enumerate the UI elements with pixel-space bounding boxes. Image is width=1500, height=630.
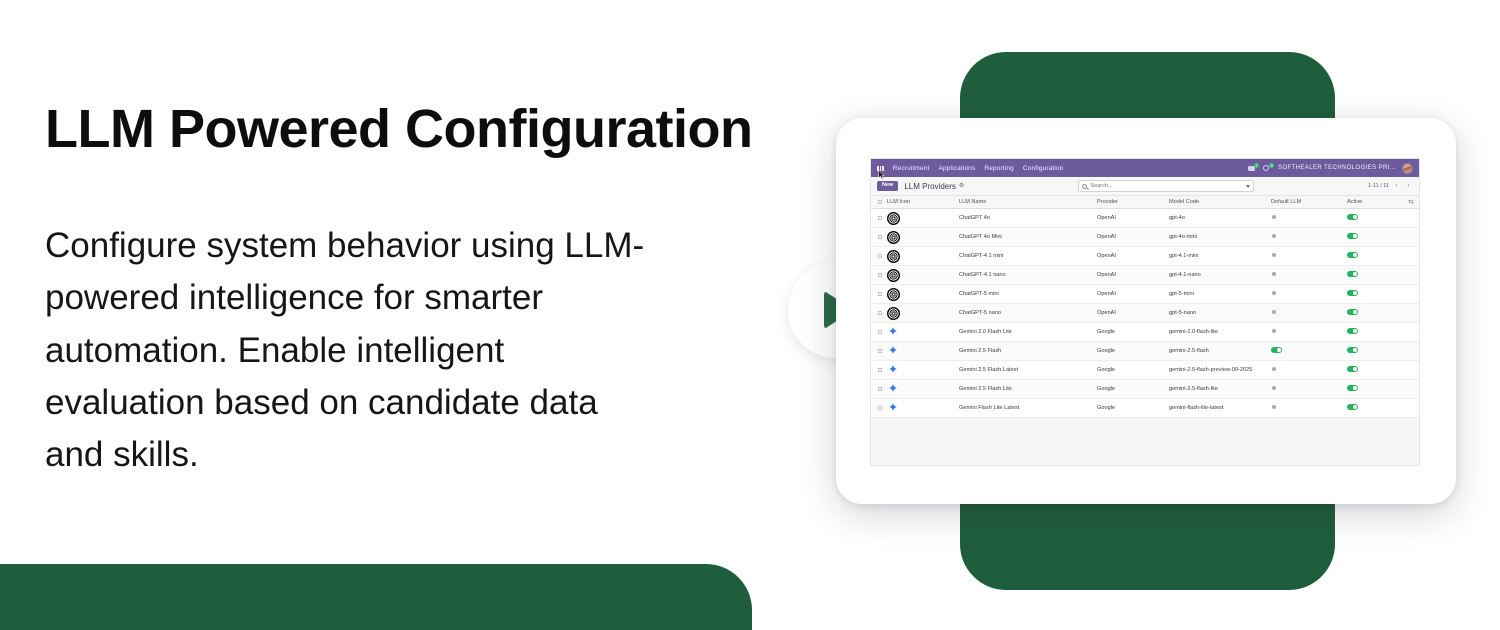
default-llm-toggle[interactable] [1271, 366, 1282, 372]
active-toggle[interactable] [1347, 347, 1358, 353]
cell-provider: Google [1097, 386, 1169, 392]
search-bar[interactable] [1078, 180, 1254, 192]
cell-default-llm[interactable] [1271, 252, 1347, 260]
cell-llm-name: Gemini 2.5 Flash [959, 348, 1097, 354]
cell-model-code: gpt-4o [1169, 215, 1271, 221]
cell-llm-name: ChatGPT-5 nano [959, 310, 1097, 316]
row-checkbox[interactable] [871, 254, 887, 258]
app-topbar: Recruitment Applications Reporting Confi… [871, 159, 1419, 177]
table-body: ChatGPT 4oOpenAIgpt-4oChatGPT 4o MiniOpe… [871, 209, 1419, 418]
row-checkbox[interactable] [871, 292, 887, 296]
cell-model-code: gpt-5-mini [1169, 291, 1271, 297]
messages-count: 7 [1254, 163, 1259, 168]
cell-llm-icon [887, 326, 959, 338]
gemini-logo-icon [887, 383, 899, 395]
view-title-label: LLM Providers [904, 182, 956, 191]
menu-item-reporting[interactable]: Reporting [984, 165, 1014, 172]
column-header-model-code[interactable]: Model Code [1169, 199, 1271, 205]
default-llm-toggle[interactable] [1271, 309, 1282, 315]
openai-logo-icon [887, 307, 900, 320]
activities-count: 8 [1269, 163, 1274, 168]
cell-provider: Google [1097, 329, 1169, 335]
search-wrapper [971, 180, 1362, 192]
active-toggle[interactable] [1347, 271, 1358, 277]
cell-active[interactable] [1347, 271, 1403, 279]
chevron-left-icon[interactable]: ‹ [1392, 182, 1401, 191]
default-llm-toggle[interactable] [1271, 252, 1282, 258]
cell-llm-name: ChatGPT 4o [959, 215, 1097, 221]
cell-provider: Google [1097, 367, 1169, 373]
cell-llm-name: ChatGPT-4.1 mini [959, 253, 1097, 259]
table-row[interactable]: Gemini 2.0 Flash LiteGooglegemini-2.0-fl… [871, 323, 1419, 342]
cell-llm-icon [887, 269, 959, 282]
cell-active[interactable] [1347, 290, 1403, 298]
openai-logo-icon [887, 269, 900, 282]
cell-llm-icon [887, 364, 959, 376]
cell-provider: OpenAI [1097, 310, 1169, 316]
breadcrumb: LLM Providers ⚙ [904, 182, 965, 191]
default-llm-toggle[interactable] [1271, 290, 1282, 296]
column-header-default-llm[interactable]: Default LLM [1271, 199, 1347, 205]
openai-logo-icon [887, 231, 900, 244]
cell-default-llm[interactable] [1271, 385, 1347, 393]
openai-logo-icon [887, 288, 900, 301]
table-row[interactable]: Gemini 2.5 Flash LiteGooglegemini-2.5-fl… [871, 380, 1419, 399]
cell-default-llm[interactable] [1271, 347, 1347, 355]
row-checkbox[interactable] [871, 368, 887, 372]
search-icon [1082, 184, 1087, 189]
hero-copy: LLM Powered Configuration Configure syst… [45, 100, 805, 481]
clock-icon[interactable]: 8 [1263, 164, 1272, 173]
cell-llm-name: ChatGPT-4.1 nano [959, 272, 1097, 278]
new-button[interactable]: New [877, 181, 898, 192]
cell-llm-name: ChatGPT-5 mini [959, 291, 1097, 297]
openai-logo-icon [887, 250, 900, 263]
column-header-llm-icon[interactable]: LLM Icon [887, 199, 959, 205]
gemini-logo-icon [887, 345, 899, 357]
default-llm-toggle[interactable] [1271, 347, 1282, 353]
active-toggle[interactable] [1347, 290, 1358, 296]
active-toggle[interactable] [1347, 366, 1358, 372]
cell-model-code: gpt-4.1-mini [1169, 253, 1271, 259]
default-llm-toggle[interactable] [1271, 233, 1282, 239]
cell-model-code: gemini-flash-lite-latest [1169, 405, 1271, 411]
row-checkbox[interactable] [871, 235, 887, 239]
cell-default-llm[interactable] [1271, 366, 1347, 374]
default-llm-toggle[interactable] [1271, 328, 1282, 334]
cell-llm-name: Gemini 2.5 Flash Latest [959, 367, 1097, 373]
table-row[interactable]: ChatGPT-4.1 miniOpenAIgpt-4.1-mini [871, 247, 1419, 266]
active-toggle[interactable] [1347, 328, 1358, 334]
cell-llm-icon [887, 345, 959, 357]
chevron-down-icon[interactable] [1246, 185, 1250, 188]
chevron-right-icon[interactable]: › [1404, 182, 1413, 191]
cell-provider: OpenAI [1097, 215, 1169, 221]
cell-llm-icon [887, 231, 959, 244]
table-empty-space [871, 418, 1419, 466]
row-checkbox[interactable] [871, 406, 887, 410]
hero-description: Configure system behavior using LLM-powe… [45, 220, 665, 481]
cell-active[interactable] [1347, 366, 1403, 374]
column-header-active[interactable]: Active [1347, 199, 1403, 205]
table-row[interactable]: Gemini 2.5 Flash LatestGooglegemini-2.5-… [871, 361, 1419, 380]
gemini-logo-icon [887, 402, 899, 414]
pager-range: 1-11 / 11 [1368, 183, 1389, 189]
decor-shape-bottom-left [0, 564, 752, 630]
cell-llm-icon [887, 288, 959, 301]
table-row[interactable]: ChatGPT 4oOpenAIgpt-4o [871, 209, 1419, 228]
cell-active[interactable] [1347, 385, 1403, 393]
cell-active[interactable] [1347, 233, 1403, 241]
cell-provider: OpenAI [1097, 234, 1169, 240]
table-header-row: LLM Icon LLM Name Provider Model Code De… [871, 196, 1419, 209]
gemini-logo-icon [887, 364, 899, 376]
row-checkbox[interactable] [871, 387, 887, 391]
row-checkbox[interactable] [871, 311, 887, 315]
company-name[interactable]: SOFTHEALER TECHNOLOGIES PRI... [1278, 165, 1396, 171]
menu-item-configuration[interactable]: Configuration [1023, 165, 1064, 172]
cell-active[interactable] [1347, 328, 1403, 336]
active-toggle[interactable] [1347, 385, 1358, 391]
cell-provider: OpenAI [1097, 272, 1169, 278]
row-checkbox[interactable] [871, 273, 887, 277]
default-llm-toggle[interactable] [1271, 271, 1282, 277]
cell-active[interactable] [1347, 347, 1403, 355]
cell-provider: Google [1097, 405, 1169, 411]
cell-llm-icon [887, 402, 959, 414]
cell-active[interactable] [1347, 404, 1403, 412]
cell-model-code: gpt-5-nano [1169, 310, 1271, 316]
cell-active[interactable] [1347, 214, 1403, 222]
gear-icon[interactable]: ⚙ [959, 183, 965, 189]
table-row[interactable]: ChatGPT-5 nanoOpenAIgpt-5-nano [871, 304, 1419, 323]
slide-canvas: LLM Powered Configuration Configure syst… [0, 0, 1500, 630]
app-screenshot: Recruitment Applications Reporting Confi… [870, 158, 1420, 466]
cell-model-code: gpt-4.1-nano [1169, 272, 1271, 278]
cell-model-code: gemini-2.5-flash-preview-09-2025 [1169, 367, 1271, 373]
cell-llm-icon [887, 383, 959, 395]
cell-default-llm[interactable] [1271, 214, 1347, 222]
cell-llm-icon [887, 307, 959, 320]
chat-bubble-icon[interactable]: 7 [1248, 164, 1257, 173]
cell-llm-icon [887, 212, 959, 225]
active-toggle[interactable] [1347, 214, 1358, 220]
cell-llm-icon [887, 250, 959, 263]
openai-logo-icon [887, 212, 900, 225]
active-toggle[interactable] [1347, 233, 1358, 239]
grid-icon[interactable] [877, 166, 884, 171]
cell-llm-name: Gemini 2.5 Flash Lite [959, 386, 1097, 392]
page-title: LLM Powered Configuration [45, 100, 805, 158]
topbar-right: 7 8 SOFTHEALER TECHNOLOGIES PRI... [1248, 163, 1413, 174]
active-toggle[interactable] [1347, 404, 1358, 410]
default-llm-toggle[interactable] [1271, 404, 1282, 410]
pager: 1-11 / 11 ‹ › [1368, 182, 1413, 191]
cell-default-llm[interactable] [1271, 290, 1347, 298]
cell-llm-name: Gemini Flash Lite Latest [959, 405, 1097, 411]
cell-default-llm[interactable] [1271, 233, 1347, 241]
cell-active[interactable] [1347, 309, 1403, 317]
row-checkbox[interactable] [871, 216, 887, 220]
llm-providers-table: LLM Icon LLM Name Provider Model Code De… [871, 196, 1419, 466]
cell-model-code: gemini-2.5-flash [1169, 348, 1271, 354]
column-header-llm-name[interactable]: LLM Name [959, 199, 1097, 205]
cell-provider: OpenAI [1097, 291, 1169, 297]
cell-provider: OpenAI [1097, 253, 1169, 259]
cell-llm-name: Gemini 2.0 Flash Lite [959, 329, 1097, 335]
row-checkbox[interactable] [871, 349, 887, 353]
gemini-logo-icon [887, 326, 899, 338]
cell-llm-name: ChatGPT 4o Mini [959, 234, 1097, 240]
cell-active[interactable] [1347, 252, 1403, 260]
active-toggle[interactable] [1347, 309, 1358, 315]
table-row[interactable]: Gemini 2.5 FlashGooglegemini-2.5-flash [871, 342, 1419, 361]
table-row[interactable]: Gemini Flash Lite LatestGooglegemini-fla… [871, 399, 1419, 418]
main-menu: Recruitment Applications Reporting Confi… [893, 165, 1064, 172]
cell-provider: Google [1097, 348, 1169, 354]
cell-model-code: gpt-4o-mini [1169, 234, 1271, 240]
default-llm-toggle[interactable] [1271, 385, 1282, 391]
avatar[interactable] [1402, 163, 1413, 174]
table-row[interactable]: ChatGPT 4o MiniOpenAIgpt-4o-mini [871, 228, 1419, 247]
active-toggle[interactable] [1347, 252, 1358, 258]
control-panel: New LLM Providers ⚙ 1-11 / 11 ‹ › [871, 177, 1419, 196]
menu-item-applications[interactable]: Applications [938, 165, 975, 172]
cell-model-code: gemini-2.5-flash-lite [1169, 386, 1271, 392]
menu-item-recruitment[interactable]: Recruitment [893, 165, 930, 172]
row-checkbox[interactable] [871, 330, 887, 334]
search-input[interactable] [1090, 183, 1243, 189]
tablet-device-frame: Recruitment Applications Reporting Confi… [836, 118, 1456, 504]
cell-default-llm[interactable] [1271, 328, 1347, 336]
cell-default-llm[interactable] [1271, 309, 1347, 317]
cell-default-llm[interactable] [1271, 271, 1347, 279]
select-all-checkbox[interactable] [871, 200, 887, 204]
table-row[interactable]: ChatGPT-4.1 nanoOpenAIgpt-4.1-nano [871, 266, 1419, 285]
column-options-icon[interactable]: ⇆ [1403, 198, 1419, 206]
cell-default-llm[interactable] [1271, 404, 1347, 412]
table-row[interactable]: ChatGPT-5 miniOpenAIgpt-5-mini [871, 285, 1419, 304]
column-header-provider[interactable]: Provider [1097, 199, 1169, 205]
cell-model-code: gemini-2.0-flash-lite [1169, 329, 1271, 335]
default-llm-toggle[interactable] [1271, 214, 1282, 220]
